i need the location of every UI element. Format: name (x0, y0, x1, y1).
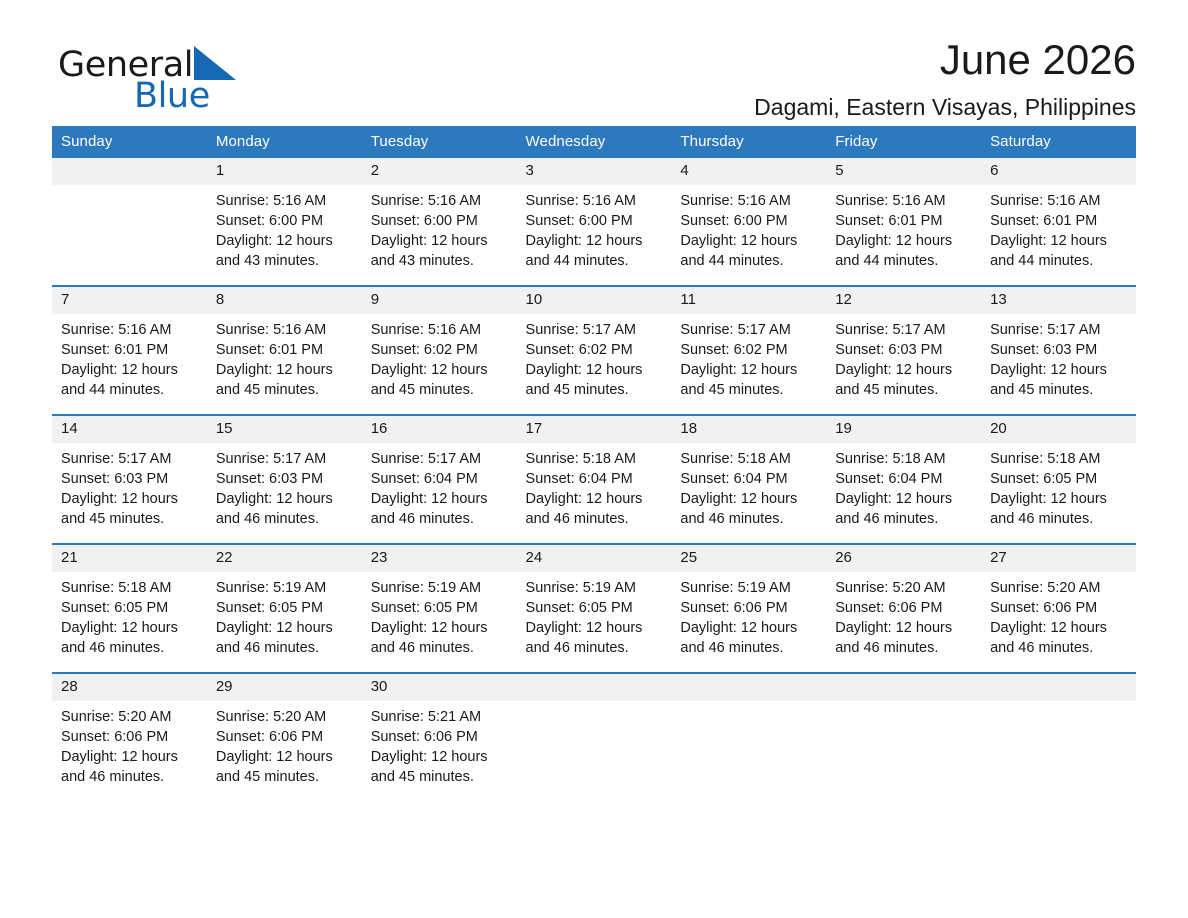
sunrise-line: Sunrise: 5:16 AM (835, 191, 973, 211)
sunset-line: Sunset: 6:00 PM (371, 211, 509, 231)
day-details: Sunrise: 5:19 AM Sunset: 6:05 PM Dayligh… (517, 572, 672, 672)
daylight-line-1: Daylight: 12 hours (61, 618, 199, 638)
daylight-line-1: Daylight: 12 hours (990, 489, 1128, 509)
sunset-line: Sunset: 6:01 PM (990, 211, 1128, 231)
sunrise-line: Sunrise: 5:18 AM (680, 449, 818, 469)
sunrise-line: Sunrise: 5:19 AM (680, 578, 818, 598)
day-number: 18 (671, 416, 826, 443)
day-cell[interactable]: 28 Sunrise: 5:20 AM Sunset: 6:06 PM Dayl… (52, 673, 207, 801)
day-details: Sunrise: 5:20 AM Sunset: 6:06 PM Dayligh… (207, 701, 362, 801)
day-number (981, 674, 1136, 701)
day-number: 29 (207, 674, 362, 701)
day-number: 25 (671, 545, 826, 572)
day-cell[interactable]: 17 Sunrise: 5:18 AM Sunset: 6:04 PM Dayl… (517, 415, 672, 544)
sunrise-line: Sunrise: 5:17 AM (835, 320, 973, 340)
sunset-line: Sunset: 6:06 PM (990, 598, 1128, 618)
weekday-header-friday: Friday (826, 126, 981, 158)
sunset-line: Sunset: 6:01 PM (835, 211, 973, 231)
day-details: Sunrise: 5:18 AM Sunset: 6:04 PM Dayligh… (517, 443, 672, 543)
day-details: Sunrise: 5:16 AM Sunset: 6:01 PM Dayligh… (52, 314, 207, 414)
sunset-line: Sunset: 6:03 PM (835, 340, 973, 360)
day-number: 2 (362, 158, 517, 185)
day-cell-empty (52, 158, 207, 286)
day-number: 5 (826, 158, 981, 185)
sunrise-line: Sunrise: 5:17 AM (371, 449, 509, 469)
day-details: Sunrise: 5:17 AM Sunset: 6:02 PM Dayligh… (517, 314, 672, 414)
sunrise-line: Sunrise: 5:20 AM (835, 578, 973, 598)
sunrise-line: Sunrise: 5:16 AM (371, 191, 509, 211)
weekday-header-sunday: Sunday (52, 126, 207, 158)
sunrise-line: Sunrise: 5:20 AM (61, 707, 199, 727)
day-details: Sunrise: 5:16 AM Sunset: 6:01 PM Dayligh… (826, 185, 981, 285)
day-number: 30 (362, 674, 517, 701)
daylight-line-1: Daylight: 12 hours (990, 360, 1128, 380)
day-number: 19 (826, 416, 981, 443)
daylight-line-1: Daylight: 12 hours (216, 747, 354, 767)
day-details: Sunrise: 5:19 AM Sunset: 6:05 PM Dayligh… (207, 572, 362, 672)
daylight-line-1: Daylight: 12 hours (371, 360, 509, 380)
sunrise-line: Sunrise: 5:17 AM (680, 320, 818, 340)
day-number: 27 (981, 545, 1136, 572)
logo-top-row: General (58, 46, 358, 83)
day-cell[interactable]: 9 Sunrise: 5:16 AM Sunset: 6:02 PM Dayli… (362, 286, 517, 415)
daylight-line-1: Daylight: 12 hours (216, 618, 354, 638)
calendar-week-row: 21 Sunrise: 5:18 AM Sunset: 6:05 PM Dayl… (52, 544, 1136, 673)
day-number: 11 (671, 287, 826, 314)
day-number: 1 (207, 158, 362, 185)
daylight-line-1: Daylight: 12 hours (990, 618, 1128, 638)
daylight-line-1: Daylight: 12 hours (216, 489, 354, 509)
daylight-line-2: and 46 minutes. (371, 638, 509, 658)
sunset-line: Sunset: 6:06 PM (61, 727, 199, 747)
day-cell[interactable]: 18 Sunrise: 5:18 AM Sunset: 6:04 PM Dayl… (671, 415, 826, 544)
sunset-line: Sunset: 6:04 PM (371, 469, 509, 489)
day-cell[interactable]: 5 Sunrise: 5:16 AM Sunset: 6:01 PM Dayli… (826, 158, 981, 286)
day-details: Sunrise: 5:20 AM Sunset: 6:06 PM Dayligh… (981, 572, 1136, 672)
sunset-line: Sunset: 6:04 PM (680, 469, 818, 489)
weekday-header-thursday: Thursday (671, 126, 826, 158)
daylight-line-1: Daylight: 12 hours (680, 489, 818, 509)
calendar-body: 1 Sunrise: 5:16 AM Sunset: 6:00 PM Dayli… (52, 158, 1136, 801)
day-cell[interactable]: 8 Sunrise: 5:16 AM Sunset: 6:01 PM Dayli… (207, 286, 362, 415)
day-cell[interactable]: 2 Sunrise: 5:16 AM Sunset: 6:00 PM Dayli… (362, 158, 517, 286)
day-number: 12 (826, 287, 981, 314)
daylight-line-2: and 45 minutes. (61, 509, 199, 529)
daylight-line-2: and 45 minutes. (216, 380, 354, 400)
daylight-line-2: and 46 minutes. (371, 509, 509, 529)
day-number: 21 (52, 545, 207, 572)
sunrise-line: Sunrise: 5:17 AM (990, 320, 1128, 340)
daylight-line-1: Daylight: 12 hours (835, 489, 973, 509)
day-cell[interactable]: 15 Sunrise: 5:17 AM Sunset: 6:03 PM Dayl… (207, 415, 362, 544)
sunrise-line: Sunrise: 5:16 AM (216, 191, 354, 211)
sunset-line: Sunset: 6:03 PM (61, 469, 199, 489)
daylight-line-1: Daylight: 12 hours (835, 360, 973, 380)
sunrise-line: Sunrise: 5:19 AM (216, 578, 354, 598)
day-cell[interactable]: 3 Sunrise: 5:16 AM Sunset: 6:00 PM Dayli… (517, 158, 672, 286)
day-number: 8 (207, 287, 362, 314)
daylight-line-1: Daylight: 12 hours (680, 618, 818, 638)
sunset-line: Sunset: 6:05 PM (990, 469, 1128, 489)
day-cell-empty (517, 673, 672, 801)
sunset-line: Sunset: 6:05 PM (61, 598, 199, 618)
day-details: Sunrise: 5:17 AM Sunset: 6:04 PM Dayligh… (362, 443, 517, 543)
daylight-line-1: Daylight: 12 hours (990, 231, 1128, 251)
calendar-table: Sunday Monday Tuesday Wednesday Thursday… (52, 126, 1136, 801)
sunset-line: Sunset: 6:00 PM (216, 211, 354, 231)
day-details: Sunrise: 5:19 AM Sunset: 6:05 PM Dayligh… (362, 572, 517, 672)
daylight-line-2: and 43 minutes. (371, 251, 509, 271)
daylight-line-1: Daylight: 12 hours (216, 231, 354, 251)
day-cell[interactable]: 1 Sunrise: 5:16 AM Sunset: 6:00 PM Dayli… (207, 158, 362, 286)
day-cell[interactable]: 7 Sunrise: 5:16 AM Sunset: 6:01 PM Dayli… (52, 286, 207, 415)
daylight-line-1: Daylight: 12 hours (61, 360, 199, 380)
day-number: 16 (362, 416, 517, 443)
calendar-week-row: 28 Sunrise: 5:20 AM Sunset: 6:06 PM Dayl… (52, 673, 1136, 801)
day-cell[interactable]: 16 Sunrise: 5:17 AM Sunset: 6:04 PM Dayl… (362, 415, 517, 544)
sunrise-line: Sunrise: 5:18 AM (990, 449, 1128, 469)
day-details: Sunrise: 5:17 AM Sunset: 6:02 PM Dayligh… (671, 314, 826, 414)
day-number: 24 (517, 545, 672, 572)
day-details: Sunrise: 5:21 AM Sunset: 6:06 PM Dayligh… (362, 701, 517, 801)
day-number: 4 (671, 158, 826, 185)
day-cell[interactable]: 27 Sunrise: 5:20 AM Sunset: 6:06 PM Dayl… (981, 544, 1136, 673)
daylight-line-2: and 46 minutes. (835, 638, 973, 658)
calendar-week-row: 7 Sunrise: 5:16 AM Sunset: 6:01 PM Dayli… (52, 286, 1136, 415)
day-cell[interactable]: 23 Sunrise: 5:19 AM Sunset: 6:05 PM Dayl… (362, 544, 517, 673)
weekday-header-saturday: Saturday (981, 126, 1136, 158)
day-number (52, 158, 207, 185)
sunset-line: Sunset: 6:02 PM (680, 340, 818, 360)
daylight-line-2: and 44 minutes. (526, 251, 664, 271)
day-number: 26 (826, 545, 981, 572)
daylight-line-2: and 46 minutes. (526, 509, 664, 529)
logo-word-general: General (58, 48, 193, 83)
sunrise-line: Sunrise: 5:16 AM (526, 191, 664, 211)
sunrise-line: Sunrise: 5:16 AM (216, 320, 354, 340)
calendar-page: General Blue June 2026 Dagami, Eastern V… (0, 0, 1188, 918)
daylight-line-2: and 46 minutes. (990, 509, 1128, 529)
daylight-line-2: and 44 minutes. (680, 251, 818, 271)
day-details: Sunrise: 5:18 AM Sunset: 6:04 PM Dayligh… (671, 443, 826, 543)
sunset-line: Sunset: 6:06 PM (680, 598, 818, 618)
daylight-line-2: and 45 minutes. (371, 767, 509, 787)
day-number: 15 (207, 416, 362, 443)
sunset-line: Sunset: 6:03 PM (990, 340, 1128, 360)
sunset-line: Sunset: 6:00 PM (526, 211, 664, 231)
sunrise-line: Sunrise: 5:17 AM (216, 449, 354, 469)
day-number: 17 (517, 416, 672, 443)
sunrise-line: Sunrise: 5:19 AM (526, 578, 664, 598)
day-details: Sunrise: 5:20 AM Sunset: 6:06 PM Dayligh… (826, 572, 981, 672)
day-number (826, 674, 981, 701)
day-cell[interactable]: 11 Sunrise: 5:17 AM Sunset: 6:02 PM Dayl… (671, 286, 826, 415)
daylight-line-2: and 46 minutes. (680, 638, 818, 658)
weekday-header-tuesday: Tuesday (362, 126, 517, 158)
sunset-line: Sunset: 6:05 PM (216, 598, 354, 618)
daylight-line-2: and 45 minutes. (526, 380, 664, 400)
daylight-line-1: Daylight: 12 hours (216, 360, 354, 380)
sunset-line: Sunset: 6:00 PM (680, 211, 818, 231)
sunset-line: Sunset: 6:06 PM (835, 598, 973, 618)
day-details: Sunrise: 5:17 AM Sunset: 6:03 PM Dayligh… (207, 443, 362, 543)
sunrise-line: Sunrise: 5:18 AM (835, 449, 973, 469)
day-number: 10 (517, 287, 672, 314)
day-cell[interactable]: 29 Sunrise: 5:20 AM Sunset: 6:06 PM Dayl… (207, 673, 362, 801)
daylight-line-2: and 44 minutes. (835, 251, 973, 271)
calendar-week-row: 14 Sunrise: 5:17 AM Sunset: 6:03 PM Dayl… (52, 415, 1136, 544)
daylight-line-2: and 45 minutes. (835, 380, 973, 400)
sunrise-line: Sunrise: 5:17 AM (526, 320, 664, 340)
daylight-line-2: and 45 minutes. (371, 380, 509, 400)
daylight-line-1: Daylight: 12 hours (526, 489, 664, 509)
daylight-line-1: Daylight: 12 hours (61, 489, 199, 509)
daylight-line-1: Daylight: 12 hours (526, 231, 664, 251)
daylight-line-1: Daylight: 12 hours (61, 747, 199, 767)
day-details: Sunrise: 5:16 AM Sunset: 6:01 PM Dayligh… (981, 185, 1136, 285)
day-details: Sunrise: 5:16 AM Sunset: 6:01 PM Dayligh… (207, 314, 362, 414)
day-cell[interactable]: 12 Sunrise: 5:17 AM Sunset: 6:03 PM Dayl… (826, 286, 981, 415)
day-cell[interactable]: 30 Sunrise: 5:21 AM Sunset: 6:06 PM Dayl… (362, 673, 517, 801)
day-cell[interactable]: 19 Sunrise: 5:18 AM Sunset: 6:04 PM Dayl… (826, 415, 981, 544)
day-cell[interactable]: 10 Sunrise: 5:17 AM Sunset: 6:02 PM Dayl… (517, 286, 672, 415)
daylight-line-2: and 46 minutes. (990, 638, 1128, 658)
sunset-line: Sunset: 6:02 PM (526, 340, 664, 360)
day-cell[interactable]: 25 Sunrise: 5:19 AM Sunset: 6:06 PM Dayl… (671, 544, 826, 673)
generalblue-logo[interactable]: General Blue (58, 46, 358, 116)
sunrise-line: Sunrise: 5:17 AM (61, 449, 199, 469)
day-number (671, 674, 826, 701)
daylight-line-1: Daylight: 12 hours (680, 231, 818, 251)
sunset-line: Sunset: 6:05 PM (371, 598, 509, 618)
daylight-line-1: Daylight: 12 hours (526, 360, 664, 380)
day-details: Sunrise: 5:18 AM Sunset: 6:04 PM Dayligh… (826, 443, 981, 543)
day-cell-empty (826, 673, 981, 801)
daylight-line-2: and 43 minutes. (216, 251, 354, 271)
daylight-line-2: and 45 minutes. (216, 767, 354, 787)
daylight-line-2: and 45 minutes. (680, 380, 818, 400)
daylight-line-1: Daylight: 12 hours (371, 231, 509, 251)
daylight-line-1: Daylight: 12 hours (526, 618, 664, 638)
triangle-icon (194, 46, 236, 80)
day-details: Sunrise: 5:16 AM Sunset: 6:00 PM Dayligh… (671, 185, 826, 285)
sunset-line: Sunset: 6:05 PM (526, 598, 664, 618)
daylight-line-2: and 46 minutes. (61, 638, 199, 658)
page-header: General Blue June 2026 Dagami, Eastern V… (52, 0, 1136, 110)
sunset-line: Sunset: 6:03 PM (216, 469, 354, 489)
day-details: Sunrise: 5:18 AM Sunset: 6:05 PM Dayligh… (981, 443, 1136, 543)
sunset-line: Sunset: 6:02 PM (371, 340, 509, 360)
page-title: June 2026 (754, 38, 1136, 82)
daylight-line-2: and 46 minutes. (216, 509, 354, 529)
daylight-line-1: Daylight: 12 hours (835, 231, 973, 251)
day-cell[interactable]: 4 Sunrise: 5:16 AM Sunset: 6:00 PM Dayli… (671, 158, 826, 286)
calendar-week-row: 1 Sunrise: 5:16 AM Sunset: 6:00 PM Dayli… (52, 158, 1136, 286)
day-number: 22 (207, 545, 362, 572)
sunrise-line: Sunrise: 5:20 AM (990, 578, 1128, 598)
sunset-line: Sunset: 6:01 PM (216, 340, 354, 360)
day-details: Sunrise: 5:18 AM Sunset: 6:05 PM Dayligh… (52, 572, 207, 672)
day-number (517, 674, 672, 701)
day-details: Sunrise: 5:19 AM Sunset: 6:06 PM Dayligh… (671, 572, 826, 672)
sunset-line: Sunset: 6:01 PM (61, 340, 199, 360)
day-cell[interactable]: 26 Sunrise: 5:20 AM Sunset: 6:06 PM Dayl… (826, 544, 981, 673)
day-number: 23 (362, 545, 517, 572)
weekday-header-monday: Monday (207, 126, 362, 158)
day-cell-empty (671, 673, 826, 801)
day-number: 7 (52, 287, 207, 314)
day-cell[interactable]: 21 Sunrise: 5:18 AM Sunset: 6:05 PM Dayl… (52, 544, 207, 673)
day-cell[interactable]: 6 Sunrise: 5:16 AM Sunset: 6:01 PM Dayli… (981, 158, 1136, 286)
daylight-line-2: and 46 minutes. (526, 638, 664, 658)
day-number: 3 (517, 158, 672, 185)
calendar-header-row: Sunday Monday Tuesday Wednesday Thursday… (52, 126, 1136, 158)
title-block: June 2026 Dagami, Eastern Visayas, Phili… (754, 0, 1136, 121)
weekday-header-wednesday: Wednesday (517, 126, 672, 158)
daylight-line-2: and 46 minutes. (680, 509, 818, 529)
day-cell[interactable]: 20 Sunrise: 5:18 AM Sunset: 6:05 PM Dayl… (981, 415, 1136, 544)
day-cell-empty (981, 673, 1136, 801)
day-number: 20 (981, 416, 1136, 443)
daylight-line-1: Daylight: 12 hours (371, 489, 509, 509)
day-number: 14 (52, 416, 207, 443)
sunset-line: Sunset: 6:06 PM (371, 727, 509, 747)
day-number: 6 (981, 158, 1136, 185)
daylight-line-2: and 45 minutes. (990, 380, 1128, 400)
daylight-line-2: and 46 minutes. (216, 638, 354, 658)
day-cell[interactable]: 14 Sunrise: 5:17 AM Sunset: 6:03 PM Dayl… (52, 415, 207, 544)
day-cell[interactable]: 22 Sunrise: 5:19 AM Sunset: 6:05 PM Dayl… (207, 544, 362, 673)
day-details: Sunrise: 5:16 AM Sunset: 6:00 PM Dayligh… (517, 185, 672, 285)
sunrise-line: Sunrise: 5:19 AM (371, 578, 509, 598)
day-details: Sunrise: 5:20 AM Sunset: 6:06 PM Dayligh… (52, 701, 207, 801)
sunrise-line: Sunrise: 5:18 AM (526, 449, 664, 469)
sunset-line: Sunset: 6:04 PM (526, 469, 664, 489)
sunrise-line: Sunrise: 5:18 AM (61, 578, 199, 598)
sunset-line: Sunset: 6:06 PM (216, 727, 354, 747)
daylight-line-2: and 46 minutes. (61, 767, 199, 787)
daylight-line-2: and 46 minutes. (835, 509, 973, 529)
sunrise-line: Sunrise: 5:21 AM (371, 707, 509, 727)
daylight-line-2: and 44 minutes. (61, 380, 199, 400)
day-number: 9 (362, 287, 517, 314)
sunrise-line: Sunrise: 5:16 AM (680, 191, 818, 211)
daylight-line-1: Daylight: 12 hours (835, 618, 973, 638)
day-cell[interactable]: 24 Sunrise: 5:19 AM Sunset: 6:05 PM Dayl… (517, 544, 672, 673)
day-details: Sunrise: 5:17 AM Sunset: 6:03 PM Dayligh… (52, 443, 207, 543)
daylight-line-2: and 44 minutes. (990, 251, 1128, 271)
day-number: 28 (52, 674, 207, 701)
sunrise-line: Sunrise: 5:16 AM (61, 320, 199, 340)
day-details: Sunrise: 5:16 AM Sunset: 6:00 PM Dayligh… (362, 185, 517, 285)
daylight-line-1: Daylight: 12 hours (371, 618, 509, 638)
daylight-line-1: Daylight: 12 hours (371, 747, 509, 767)
day-details: Sunrise: 5:17 AM Sunset: 6:03 PM Dayligh… (826, 314, 981, 414)
day-number: 13 (981, 287, 1136, 314)
location-subtitle: Dagami, Eastern Visayas, Philippines (754, 94, 1136, 121)
day-details: Sunrise: 5:17 AM Sunset: 6:03 PM Dayligh… (981, 314, 1136, 414)
sunrise-line: Sunrise: 5:20 AM (216, 707, 354, 727)
sunrise-line: Sunrise: 5:16 AM (990, 191, 1128, 211)
daylight-line-1: Daylight: 12 hours (680, 360, 818, 380)
sunset-line: Sunset: 6:04 PM (835, 469, 973, 489)
day-details: Sunrise: 5:16 AM Sunset: 6:02 PM Dayligh… (362, 314, 517, 414)
day-details: Sunrise: 5:16 AM Sunset: 6:00 PM Dayligh… (207, 185, 362, 285)
day-cell[interactable]: 13 Sunrise: 5:17 AM Sunset: 6:03 PM Dayl… (981, 286, 1136, 415)
sunrise-line: Sunrise: 5:16 AM (371, 320, 509, 340)
